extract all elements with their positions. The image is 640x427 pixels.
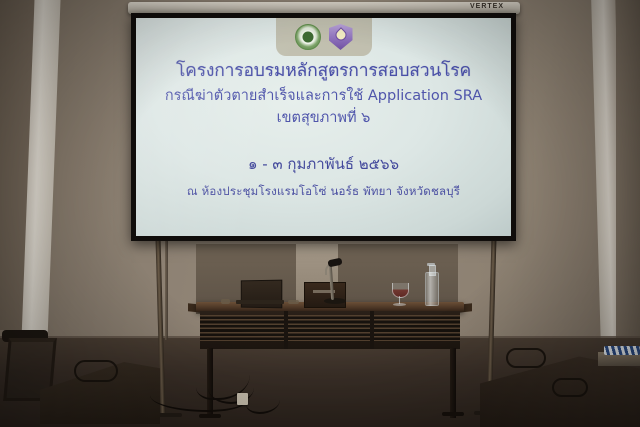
- chair-armrest-right-upper: [506, 348, 546, 368]
- ministry-of-public-health-logo-icon: [295, 24, 321, 50]
- screen-brand-label: VERTEX: [470, 3, 504, 10]
- power-adapter-block: [237, 393, 248, 405]
- microphone-base: [324, 298, 346, 304]
- slide-heading-line-2: กรณีฆ่าตัวตายสำเร็จและการใช้ Application…: [146, 86, 501, 108]
- slide-text-block: โครงการอบรมหลักสูตรการสอบสวนโรค กรณีฆ่าต…: [136, 60, 511, 201]
- conference-room-photo: VERTEX โครงการอบรมหลักสูตรการสอบสวนโรค ก…: [0, 0, 640, 427]
- chair-armrest-right-lower: [552, 378, 588, 397]
- podium-box: [304, 282, 346, 308]
- laptop-base: [236, 300, 284, 304]
- water-bottle: [425, 272, 439, 306]
- right-wall-shadow: [616, 0, 640, 360]
- conference-table-apron: [200, 311, 460, 349]
- slide-logo-band: [276, 18, 372, 56]
- wine-glass-bowl: [392, 283, 409, 298]
- slide-heading-line-1: โครงการอบรมหลักสูตรการสอบสวนโรค: [146, 60, 501, 84]
- table-slat-panel: [200, 315, 460, 341]
- slide-venue-line: ณ ห้องประชุมโรงแรมโอโซ่ นอร์ธ พัทยา จังห…: [146, 183, 501, 201]
- slide-heading-line-3: เขตสุขภาพที่ ๖: [146, 108, 501, 130]
- table-leg-right: [450, 348, 456, 418]
- chair-armrest-left: [74, 360, 118, 382]
- table-foot-right: [442, 412, 464, 416]
- mental-health-shield-logo-icon: [329, 24, 353, 50]
- laptop-screen: [241, 280, 283, 309]
- projector-screen-frame: โครงการอบรมหลักสูตรการสอบสวนโรค กรณีฆ่าต…: [131, 13, 516, 241]
- desk-pen: [288, 300, 299, 304]
- table-slat-divider: [284, 311, 288, 349]
- slide-date-line: ๑ - ๓ กุมภาพันธ์ ๒๕๖๖: [146, 152, 501, 176]
- desk-small-object: [221, 299, 230, 304]
- wine-glass-foot: [393, 303, 406, 306]
- table-foot-left: [199, 414, 221, 418]
- striped-object-on-ledge: [604, 346, 640, 355]
- presentation-slide: โครงการอบรมหลักสูตรการสอบสวนโรค กรณีฆ่าต…: [136, 18, 511, 236]
- table-slat-divider: [370, 311, 374, 349]
